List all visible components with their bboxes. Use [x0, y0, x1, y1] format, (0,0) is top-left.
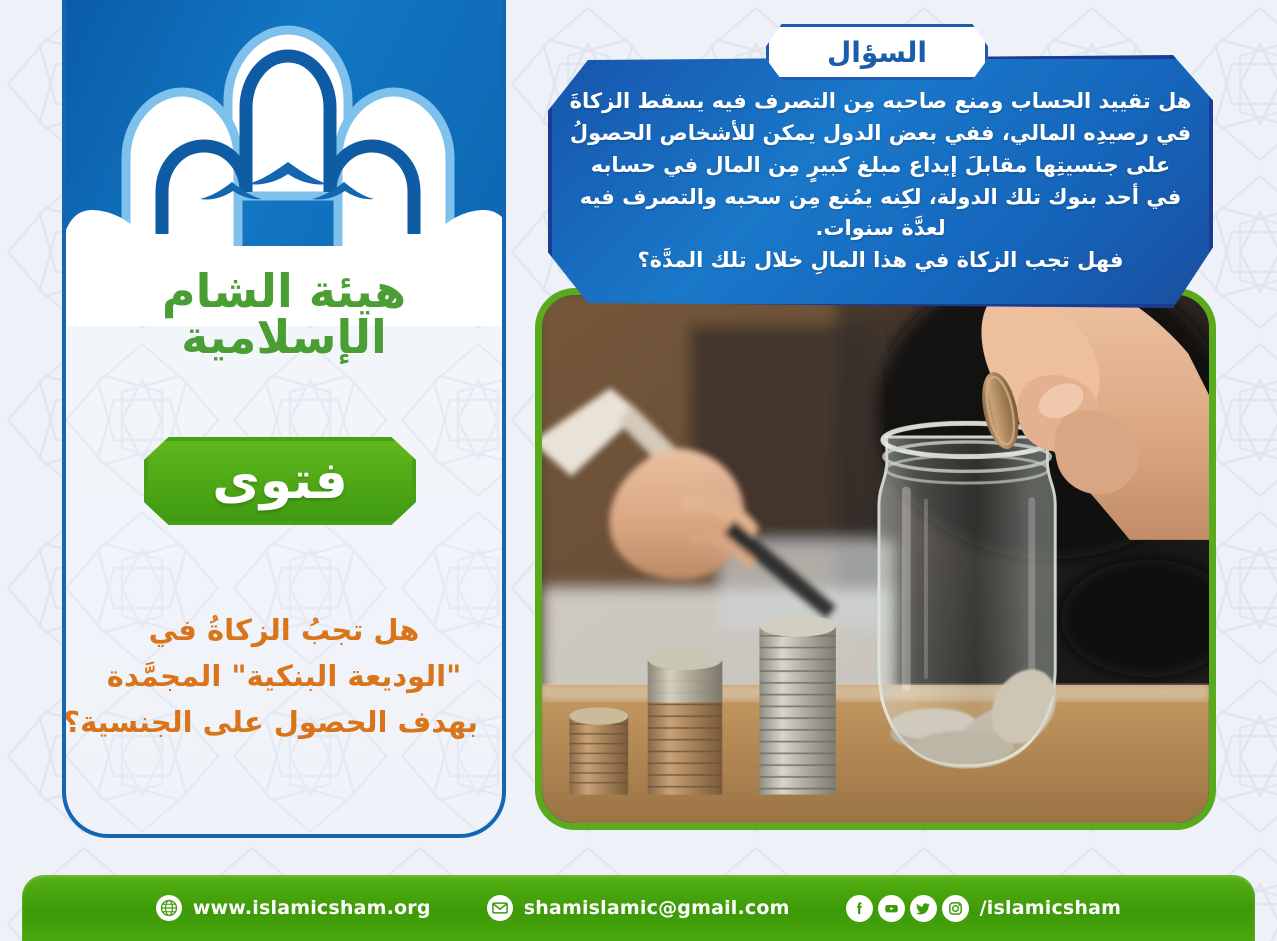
footer-bar: www.islamicsham.org shamislamic@gmail.co… [22, 875, 1255, 941]
footer-email[interactable]: shamislamic@gmail.com [487, 895, 790, 921]
question-line-1: هل تقييد الحساب ومنع صاحبه مِن التصرف في… [570, 86, 1192, 118]
illustration-photo [535, 288, 1216, 830]
fatwa-badge-label: فتوى [212, 455, 348, 507]
question-text: هل تقييد الحساب ومنع صاحبه مِن التصرف في… [570, 86, 1192, 277]
question-line-2: في رصيدِه المالي، ففي بعض الدول يمكن للأ… [570, 118, 1192, 150]
question-tab-label: السؤال [827, 36, 927, 69]
social-icon-group [846, 895, 969, 922]
footer-social[interactable]: /islamicsham [846, 895, 1122, 922]
fatwa-badge: فتوى [144, 437, 416, 525]
email-label: shamislamic@gmail.com [524, 897, 790, 919]
twitter-icon[interactable] [910, 895, 937, 922]
instagram-icon[interactable] [942, 895, 969, 922]
facebook-icon[interactable] [846, 895, 873, 922]
question-line-4: في أحد بنوك تلك الدولة، لكِنه يمُنع مِن … [570, 182, 1192, 214]
question-tab: السؤال [766, 24, 988, 80]
brand-header [62, 0, 506, 300]
headline-line-1: هل تجبُ الزكاةُ في [90, 608, 478, 654]
page-title: هل تجبُ الزكاةُ في "الوديعة البنكية" الم… [90, 608, 478, 745]
headline-line-2: "الوديعة البنكية" المجمَّدة [90, 654, 478, 700]
question-line-3: على جنسيتِها مقابلَ إيداع مبلغ كبيرٍ مِن… [570, 150, 1192, 182]
question-line-6: فهل تجب الزكاة في هذا المالِ خلال تلك ال… [570, 245, 1192, 277]
website-label: www.islamicsham.org [193, 897, 431, 919]
envelope-icon [487, 895, 513, 921]
question-line-5: لعدَّة سنوات. [570, 213, 1192, 245]
globe-icon [156, 895, 182, 921]
fatwa-poster: هيئة الشام الإسلامية فتوى هل تجبُ الزكاة… [0, 0, 1277, 941]
question-box: هل تقييد الحساب ومنع صاحبه مِن التصرف في… [548, 55, 1213, 308]
left-panel: هيئة الشام الإسلامية فتوى هل تجبُ الزكاة… [62, 0, 506, 838]
headline-line-3: بهدف الحصول على الجنسية؟ [90, 700, 478, 746]
organization-wordmark: هيئة الشام الإسلامية [66, 268, 502, 360]
youtube-icon[interactable] [878, 895, 905, 922]
social-handle-label: /islamicsham [980, 897, 1122, 919]
coins-jar-illustration [542, 295, 1209, 826]
footer-website[interactable]: www.islamicsham.org [156, 895, 431, 921]
